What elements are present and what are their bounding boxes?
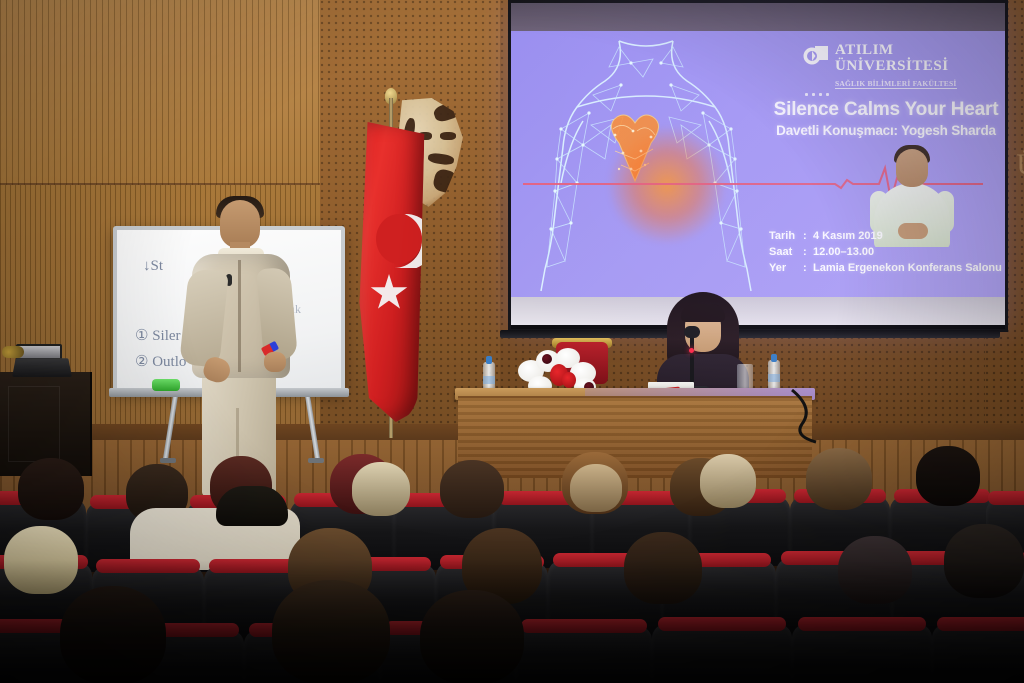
laptop [12, 358, 72, 377]
speaker-head [896, 149, 928, 187]
seat [792, 624, 932, 683]
audience-head [272, 580, 390, 683]
projection-screen: ATILIM ÜNİVERSİTESİ SAĞLIK BİLİMLERİ FAK… [508, 0, 1008, 332]
slide-subtitle: Davetli Konuşmacı: Yogesh Sharda [766, 123, 1005, 138]
slide-event-details: Tarih : 4 Kasım 2019 Saat : 12.00–13.00 … [769, 229, 1002, 277]
presenter-hand-left [264, 352, 286, 372]
seat [652, 624, 792, 683]
detail-row-time: Saat : 12.00–13.00 [769, 245, 1002, 261]
logo-line-university: ÜNİVERSİTESİ [835, 59, 957, 74]
whiteboard-line-4: ① Siler [135, 326, 181, 345]
audience-head [944, 524, 1024, 598]
audience-head [570, 464, 622, 512]
wall-left-upper-panel [0, 0, 330, 185]
screen-blank-area [511, 297, 1005, 329]
host-bangs [681, 304, 725, 322]
microphone-head [684, 326, 700, 338]
presentation-slide: ATILIM ÜNİVERSİTESİ SAĞLIK BİLİMLERİ FAK… [511, 31, 1005, 303]
atilim-university-logo: ATILIM ÜNİVERSİTESİ SAĞLIK BİLİMLERİ FAK… [803, 43, 993, 96]
table-cable [790, 388, 860, 444]
detail-row-date: Tarih : 4 Kasım 2019 [769, 229, 1002, 245]
audience-head [624, 532, 702, 604]
whiteboard-line-1: ↓St [143, 258, 163, 275]
atilim-logo-icon [803, 45, 829, 69]
audience-head [60, 586, 166, 683]
logo-dots [805, 93, 993, 96]
audience-head [806, 448, 872, 510]
detail-row-venue: Yer : Lamia Ergenekon Konferans Salonu [769, 261, 1002, 277]
audience-head [352, 462, 410, 516]
cable-bundle [2, 346, 24, 358]
bag-on-seat [216, 486, 288, 526]
audience-head [18, 458, 84, 520]
screen-top-band [511, 3, 1005, 31]
conference-hall-scene: Ü [0, 0, 1024, 683]
audience-head [440, 460, 504, 518]
whiteboard-eraser [152, 379, 180, 391]
presenter-head [220, 200, 260, 248]
logo-line-faculty: SAĞLIK BİLİMLERİ FAKÜLTESİ [835, 80, 957, 89]
audience-head [916, 446, 980, 506]
audience-head [420, 590, 524, 683]
flag-crescent-icon [366, 212, 422, 268]
seat [516, 626, 652, 683]
microphone-led-icon [689, 348, 694, 353]
wall-partial-letter: Ü [1016, 148, 1024, 182]
seat [932, 624, 1024, 683]
audience-head [838, 536, 912, 604]
slide-title: Silence Calms Your Heart [766, 99, 1005, 121]
audience-head [700, 454, 756, 508]
wireframe-torso-graphic [531, 33, 761, 298]
heart-glow [607, 125, 727, 245]
turkish-flag [357, 122, 424, 422]
logo-line-atilim: ATILIM [835, 43, 957, 58]
audience-head [4, 526, 78, 594]
presenter-jacket-zip [238, 260, 241, 372]
audience-seating [0, 440, 1024, 683]
